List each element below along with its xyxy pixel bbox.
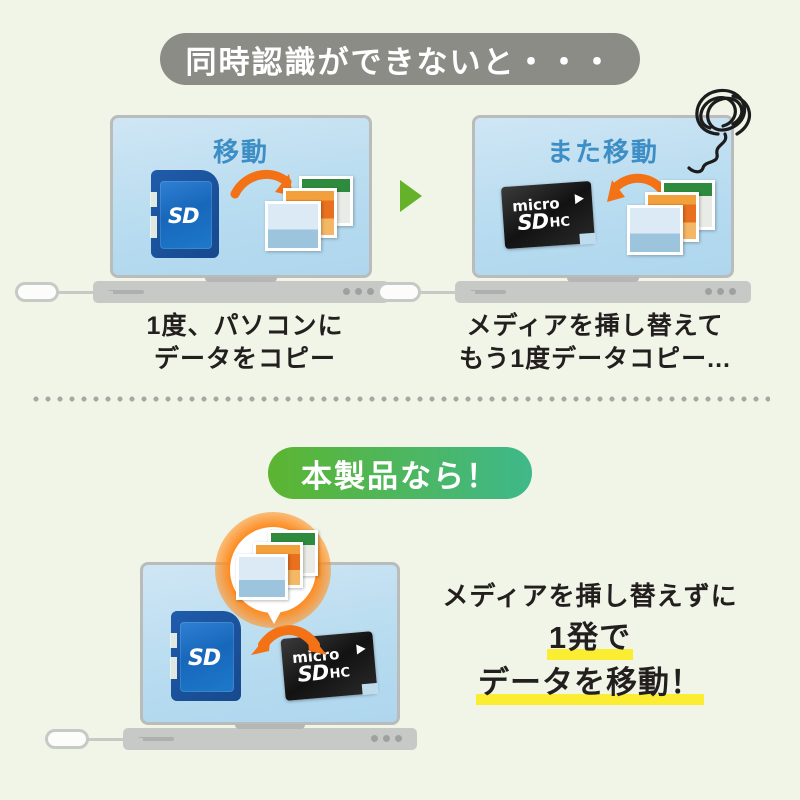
caption-step-2-line-2: もう1度データコピー... xyxy=(425,343,765,376)
laptop-2-cable-plug xyxy=(377,282,421,302)
sd-card-notch xyxy=(150,216,157,238)
sd-card-notch xyxy=(170,657,177,679)
caption-solution: メディアを挿し替えずに 1発で データを移動！ xyxy=(420,578,760,706)
solution-badge-label: 本製品なら！ xyxy=(301,451,499,496)
microsd-triangle-icon xyxy=(575,193,585,204)
solution-badge: 本製品なら！ xyxy=(268,447,532,499)
microsd-card-cut-corner xyxy=(579,233,596,245)
microsd-label-hc: HC xyxy=(549,216,570,230)
laptop-step-1: 移動 SD xyxy=(110,115,372,307)
laptop-2-cable xyxy=(420,291,475,294)
step-connector-triangle-icon xyxy=(400,180,422,212)
microsd-card-cut-corner xyxy=(362,683,379,695)
laptop-base-notch xyxy=(138,737,174,741)
caption-solution-line-1: メディアを挿し替えずに xyxy=(420,578,760,616)
caption-solution-line-3: データを移動！ xyxy=(420,661,760,706)
scribble-doodle-icon xyxy=(655,78,765,183)
photo-stack-solution xyxy=(236,530,320,602)
problem-badge-label: 同時認識ができないと・・・ xyxy=(186,37,615,82)
laptop-base-indicator-dots xyxy=(371,735,402,742)
caption-step-2: メディアを挿し替えて もう1度データコピー... xyxy=(425,310,765,376)
laptop-1-screen-label: 移動 xyxy=(113,132,369,169)
photo-stack-1 xyxy=(265,176,357,254)
caption-solution-line-2: 1発で xyxy=(420,616,760,661)
laptop-solution-base xyxy=(123,728,417,750)
photo-bridge xyxy=(236,554,288,600)
laptop-1-cable-plug xyxy=(15,282,59,302)
caption-step-2-line-1: メディアを挿し替えて xyxy=(425,310,765,343)
sd-card-notch xyxy=(170,633,177,648)
photo-bridge xyxy=(265,201,321,251)
laptop-solution-cable-plug xyxy=(45,729,89,749)
laptop-base-notch xyxy=(470,290,506,294)
laptop-1-screen: 移動 SD xyxy=(110,115,372,278)
photo-bridge xyxy=(627,205,683,255)
caption-step-1-line-2: データをコピー xyxy=(100,343,390,376)
sd-card-logo: SD xyxy=(188,646,220,671)
laptop-1-cable xyxy=(58,291,113,294)
photo-speech-bubble-tail xyxy=(263,604,285,624)
microsd-label-sd: SD xyxy=(297,662,329,686)
caption-step-1: 1度、パソコンに データをコピー xyxy=(100,310,390,376)
sd-card-solution: SD xyxy=(171,611,241,701)
problem-badge: 同時認識ができないと・・・ xyxy=(160,33,640,85)
sd-card-notch xyxy=(150,192,157,207)
microsd-label-hc: HC xyxy=(329,666,350,681)
dotted-divider xyxy=(30,396,770,402)
laptop-base-indicator-dots xyxy=(343,288,374,295)
laptop-1-base xyxy=(93,281,389,303)
photo-stack-2 xyxy=(627,180,719,258)
laptop-2-base xyxy=(455,281,751,303)
laptop-base-notch xyxy=(108,290,144,294)
sd-card-1: SD xyxy=(151,170,219,258)
microsd-card-2: micro SD HC xyxy=(501,181,595,249)
sd-card-logo: SD xyxy=(168,204,199,228)
microsd-triangle-icon xyxy=(356,644,366,655)
microsd-label-sd: SD xyxy=(517,211,549,234)
infographic-stage: 同時認識ができないと・・・ 移動 SD xyxy=(0,0,800,800)
laptop-solution-cable xyxy=(88,738,143,741)
laptop-base-indicator-dots xyxy=(705,288,736,295)
caption-step-1-line-1: 1度、パソコンに xyxy=(100,310,390,343)
